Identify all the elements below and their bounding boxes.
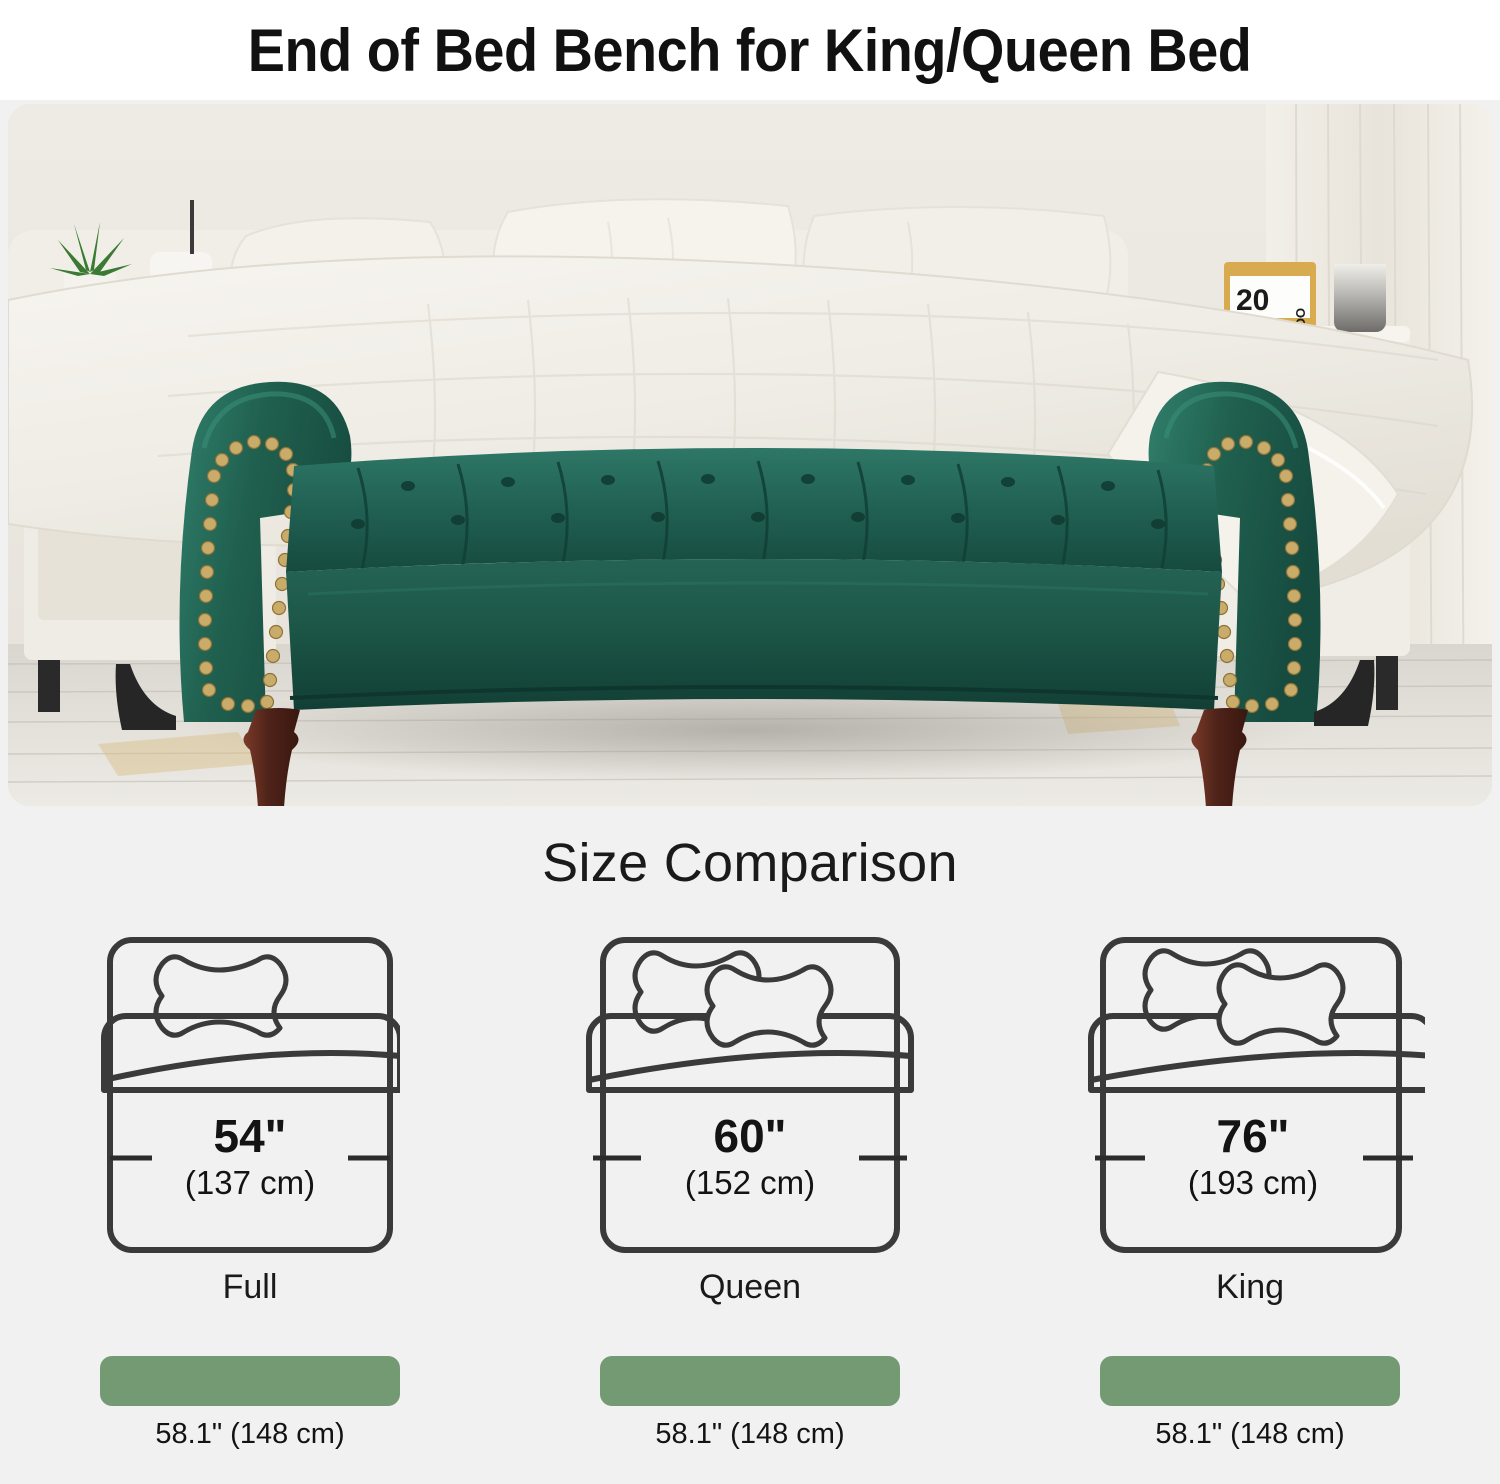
bed-width-cm-full: (137 cm) — [185, 1164, 315, 1201]
bench-width-bars-row: 58.1" (148 cm) 58.1" (148 cm) 58.1" (148… — [0, 1356, 1500, 1484]
bed-label-full: Full — [223, 1268, 278, 1307]
bench-bar-card-king: 58.1" (148 cm) — [1035, 1356, 1465, 1451]
page-title-bar: End of Bed Bench for King/Queen Bed — [0, 0, 1500, 100]
bench-bar-card-queen: 58.1" (148 cm) — [535, 1356, 965, 1451]
bed-label-king: King — [1216, 1268, 1284, 1307]
bench-width-label-king: 58.1" (148 cm) — [1155, 1418, 1344, 1451]
bed-width-inches-queen: 60" — [714, 1110, 787, 1162]
bench-width-bar — [100, 1356, 400, 1406]
bed-diagrams-row: 54" (137 cm) Full — [0, 930, 1500, 1350]
bedroom-scene-illustration: JUST FORGE AHEAD 20 OCT — [8, 104, 1492, 806]
bed-size-card-king: 76" (193 cm) King — [1035, 930, 1465, 1307]
bench-tufted-seat — [286, 448, 1222, 572]
hero-product-photo: JUST FORGE AHEAD 20 OCT — [8, 104, 1492, 806]
svg-text:20: 20 — [1236, 284, 1269, 317]
bench-width-bar — [600, 1356, 900, 1406]
size-comparison-heading: Size Comparison — [0, 832, 1500, 894]
bed-diagram-full: 54" (137 cm) — [100, 930, 400, 1260]
bed-size-card-full: 54" (137 cm) Full — [35, 930, 465, 1307]
gray-vase — [1334, 264, 1386, 332]
bed-width-inches-full: 54" — [214, 1110, 287, 1162]
bench-width-bar — [1100, 1356, 1400, 1406]
bench-bar-card-full: 58.1" (148 cm) — [35, 1356, 465, 1451]
bed-diagram-king: 76" (193 cm) — [1075, 930, 1425, 1260]
page-title: End of Bed Bench for King/Queen Bed — [248, 16, 1252, 85]
bed-size-card-queen: 60" (152 cm) Queen — [535, 930, 965, 1307]
product-infographic-page: End of Bed Bench for King/Queen Bed — [0, 0, 1500, 1484]
bed-diagram-queen: 60" (152 cm) — [585, 930, 915, 1260]
bench-width-label-queen: 58.1" (148 cm) — [655, 1418, 844, 1451]
bed-width-cm-king: (193 cm) — [1188, 1164, 1318, 1201]
bench-width-label-full: 58.1" (148 cm) — [155, 1418, 344, 1451]
bed-width-cm-queen: (152 cm) — [685, 1164, 815, 1201]
bed-label-queen: Queen — [699, 1268, 801, 1307]
bed-width-inches-king: 76" — [1217, 1110, 1290, 1162]
